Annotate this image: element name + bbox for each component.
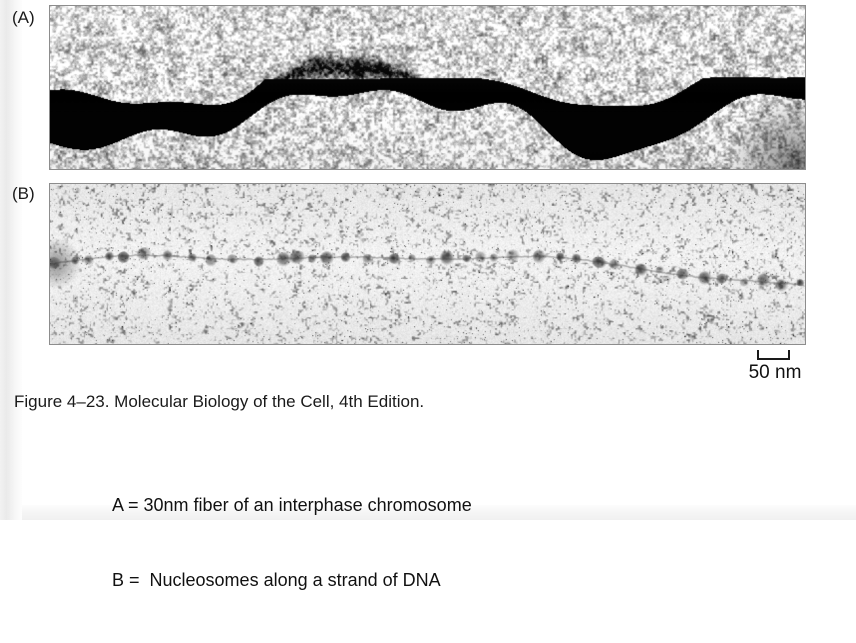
panel-a-label: (A) [12,8,35,28]
panel-b-micrograph [49,183,806,345]
figure-container: (A) (B) 50 nm Figure 4–23. Molecular Bio… [0,0,856,520]
panel-a-micrograph [49,5,806,170]
figure-caption: Figure 4–23. Molecular Biology of the Ce… [14,392,424,412]
scale-bar-label: 50 nm [740,362,810,384]
panel-a-canvas [50,6,805,169]
panel-b-canvas [50,184,805,344]
legend-line-b: B = Nucleosomes along a strand of DNA [112,568,472,593]
figure-legend: A = 30nm fiber of an interphase chromoso… [112,443,472,643]
scale-bar-bracket-icon [757,350,790,360]
legend-line-a: A = 30nm fiber of an interphase chromoso… [112,493,472,518]
panel-b-label: (B) [12,184,35,204]
scale-bar: 50 nm [740,350,810,384]
